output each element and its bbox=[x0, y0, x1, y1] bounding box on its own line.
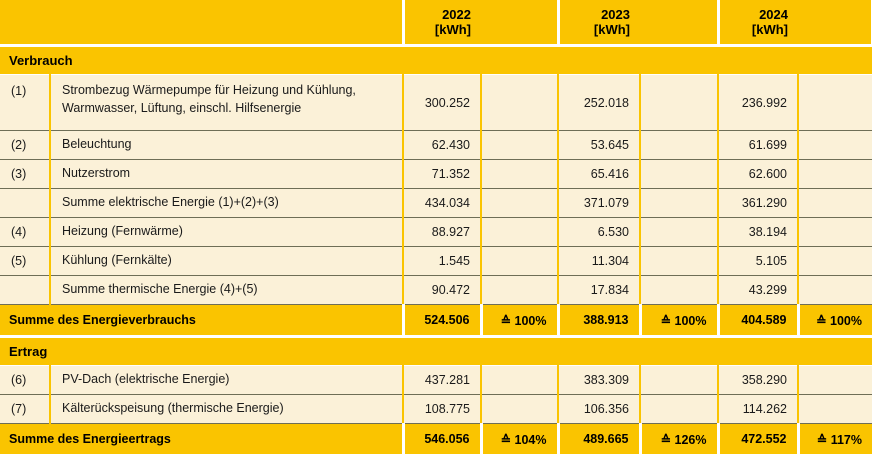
total-2022-percent: ≙ 100% bbox=[481, 305, 558, 337]
total-2024-percent: ≙ 117% bbox=[798, 424, 872, 455]
row-label: Summe thermische Energie (4)+(5) bbox=[50, 276, 403, 305]
header-spacer-2022 bbox=[481, 0, 558, 46]
cell-2022-percent bbox=[481, 75, 558, 131]
cell-2022-value: 62.430 bbox=[403, 131, 481, 160]
cell-2023-percent bbox=[640, 218, 718, 247]
table-header-row: 2022 [kWh] 2023 [kWh] 2024 [kWh] bbox=[0, 0, 872, 46]
cell-2023-value: 65.416 bbox=[558, 160, 640, 189]
total-label: Summe des Energieertrags bbox=[0, 424, 403, 455]
section-header-verbrauch: Verbrauch bbox=[0, 46, 872, 75]
row-index: (5) bbox=[0, 247, 50, 276]
row-label-line2: Warmwasser, Lüftung, einschl. Hilfsenerg… bbox=[62, 101, 301, 115]
cell-2024-percent bbox=[798, 247, 872, 276]
energy-balance-table-container: 2022 [kWh] 2023 [kWh] 2024 [kWh] Verbrau… bbox=[0, 0, 872, 468]
cell-2023-value: 17.834 bbox=[558, 276, 640, 305]
cell-2024-percent bbox=[798, 160, 872, 189]
table-row: (6) PV-Dach (elektrische Energie) 437.28… bbox=[0, 366, 872, 395]
header-spacer-2023 bbox=[640, 0, 718, 46]
cell-2022-percent bbox=[481, 189, 558, 218]
total-2023-value: 388.913 bbox=[558, 305, 640, 337]
cell-2022-percent bbox=[481, 131, 558, 160]
section-header-ertrag: Ertrag bbox=[0, 337, 872, 366]
cell-2022-value: 88.927 bbox=[403, 218, 481, 247]
row-label-line1: Strombezug Wärmepumpe für Heizung und Kü… bbox=[62, 83, 356, 97]
total-label: Summe des Energieverbrauchs bbox=[0, 305, 403, 337]
row-label: Heizung (Fernwärme) bbox=[50, 218, 403, 247]
cell-2023-percent bbox=[640, 366, 718, 395]
total-row-energieverbrauch: Summe des Energieverbrauchs 524.506 ≙ 10… bbox=[0, 305, 872, 337]
header-blank-cell bbox=[0, 0, 403, 46]
row-index: (3) bbox=[0, 160, 50, 189]
cell-2023-percent bbox=[640, 189, 718, 218]
cell-2024-value: 43.299 bbox=[718, 276, 798, 305]
total-2023-percent: ≙ 100% bbox=[640, 305, 718, 337]
row-label: Kälterückspeisung (thermische Energie) bbox=[50, 395, 403, 424]
total-2024-percent: ≙ 100% bbox=[798, 305, 872, 337]
energy-balance-table: 2022 [kWh] 2023 [kWh] 2024 [kWh] Verbrau… bbox=[0, 0, 872, 454]
header-spacer-2024 bbox=[798, 0, 872, 46]
cell-2024-percent bbox=[798, 366, 872, 395]
cell-2024-percent bbox=[798, 189, 872, 218]
row-label: Beleuchtung bbox=[50, 131, 403, 160]
header-year-2023-value: 2023 bbox=[601, 7, 630, 22]
row-label: Kühlung (Fernkälte) bbox=[50, 247, 403, 276]
cell-2022-percent bbox=[481, 218, 558, 247]
total-2022-value: 524.506 bbox=[403, 305, 481, 337]
cell-2024-percent bbox=[798, 131, 872, 160]
total-row-energieertrag: Summe des Energieertrags 546.056 ≙ 104% … bbox=[0, 424, 872, 455]
cell-2023-value: 106.356 bbox=[558, 395, 640, 424]
row-label: Strombezug Wärmepumpe für Heizung und Kü… bbox=[50, 75, 403, 131]
cell-2024-value: 114.262 bbox=[718, 395, 798, 424]
row-index: (7) bbox=[0, 395, 50, 424]
cell-2023-value: 383.309 bbox=[558, 366, 640, 395]
cell-2022-percent bbox=[481, 247, 558, 276]
cell-2023-percent bbox=[640, 395, 718, 424]
cell-2022-value: 300.252 bbox=[403, 75, 481, 131]
total-2024-value: 472.552 bbox=[718, 424, 798, 455]
header-year-2024-value: 2024 bbox=[759, 7, 788, 22]
cell-2022-percent bbox=[481, 276, 558, 305]
total-2024-value: 404.589 bbox=[718, 305, 798, 337]
header-year-2022-unit: [kWh] bbox=[405, 22, 472, 37]
header-year-2022-value: 2022 bbox=[442, 7, 471, 22]
cell-2023-value: 6.530 bbox=[558, 218, 640, 247]
header-year-2023-unit: [kWh] bbox=[560, 22, 631, 37]
cell-2023-percent bbox=[640, 276, 718, 305]
table-row-subtotal: Summe thermische Energie (4)+(5) 90.472 … bbox=[0, 276, 872, 305]
cell-2024-value: 38.194 bbox=[718, 218, 798, 247]
cell-2024-value: 358.290 bbox=[718, 366, 798, 395]
cell-2022-percent bbox=[481, 395, 558, 424]
total-2023-value: 489.665 bbox=[558, 424, 640, 455]
table-row: (4) Heizung (Fernwärme) 88.927 6.530 38.… bbox=[0, 218, 872, 247]
cell-2022-value: 1.545 bbox=[403, 247, 481, 276]
cell-2022-percent bbox=[481, 366, 558, 395]
table-row: (2) Beleuchtung 62.430 53.645 61.699 bbox=[0, 131, 872, 160]
header-year-2022: 2022 [kWh] bbox=[403, 0, 481, 46]
cell-2024-percent bbox=[798, 276, 872, 305]
header-year-2023: 2023 [kWh] bbox=[558, 0, 640, 46]
table-row: (1) Strombezug Wärmepumpe für Heizung un… bbox=[0, 75, 872, 131]
header-year-2024: 2024 [kWh] bbox=[718, 0, 798, 46]
cell-2023-percent bbox=[640, 75, 718, 131]
row-label: Nutzerstrom bbox=[50, 160, 403, 189]
cell-2023-value: 53.645 bbox=[558, 131, 640, 160]
cell-2022-value: 434.034 bbox=[403, 189, 481, 218]
section-title-ertrag: Ertrag bbox=[0, 337, 872, 366]
cell-2023-value: 11.304 bbox=[558, 247, 640, 276]
cell-2022-value: 90.472 bbox=[403, 276, 481, 305]
row-index bbox=[0, 189, 50, 218]
row-label: Summe elektrische Energie (1)+(2)+(3) bbox=[50, 189, 403, 218]
cell-2023-value: 371.079 bbox=[558, 189, 640, 218]
cell-2024-value: 361.290 bbox=[718, 189, 798, 218]
cell-2023-value: 252.018 bbox=[558, 75, 640, 131]
cell-2024-percent bbox=[798, 218, 872, 247]
cell-2022-value: 437.281 bbox=[403, 366, 481, 395]
table-row-subtotal: Summe elektrische Energie (1)+(2)+(3) 43… bbox=[0, 189, 872, 218]
cell-2024-value: 236.992 bbox=[718, 75, 798, 131]
cell-2022-percent bbox=[481, 160, 558, 189]
cell-2024-value: 5.105 bbox=[718, 247, 798, 276]
total-2023-percent: ≙ 126% bbox=[640, 424, 718, 455]
header-year-2024-unit: [kWh] bbox=[720, 22, 789, 37]
row-label: PV-Dach (elektrische Energie) bbox=[50, 366, 403, 395]
row-index: (4) bbox=[0, 218, 50, 247]
total-2022-value: 546.056 bbox=[403, 424, 481, 455]
cell-2024-value: 62.600 bbox=[718, 160, 798, 189]
table-row: (3) Nutzerstrom 71.352 65.416 62.600 bbox=[0, 160, 872, 189]
row-index: (2) bbox=[0, 131, 50, 160]
table-row: (7) Kälterückspeisung (thermische Energi… bbox=[0, 395, 872, 424]
row-index: (1) bbox=[0, 75, 50, 131]
row-index bbox=[0, 276, 50, 305]
section-title-verbrauch: Verbrauch bbox=[0, 46, 872, 75]
cell-2022-value: 71.352 bbox=[403, 160, 481, 189]
cell-2024-percent bbox=[798, 395, 872, 424]
row-index: (6) bbox=[0, 366, 50, 395]
cell-2023-percent bbox=[640, 247, 718, 276]
cell-2024-value: 61.699 bbox=[718, 131, 798, 160]
total-2022-percent: ≙ 104% bbox=[481, 424, 558, 455]
cell-2023-percent bbox=[640, 131, 718, 160]
cell-2024-percent bbox=[798, 75, 872, 131]
table-row: (5) Kühlung (Fernkälte) 1.545 11.304 5.1… bbox=[0, 247, 872, 276]
cell-2023-percent bbox=[640, 160, 718, 189]
cell-2022-value: 108.775 bbox=[403, 395, 481, 424]
